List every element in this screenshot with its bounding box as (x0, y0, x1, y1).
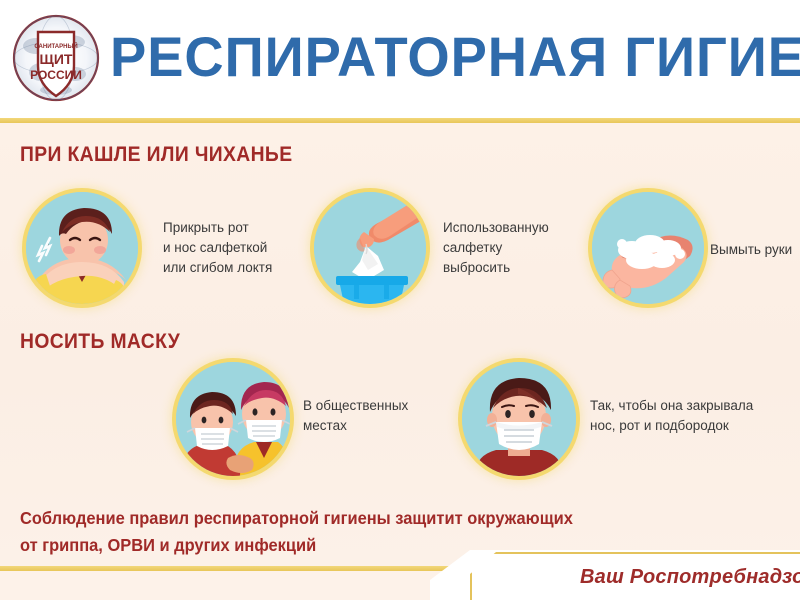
section-heading-cough: ПРИ КАШЛЕ ИЛИ ЧИХАНЬЕ (20, 143, 292, 167)
caption-masks-public: В общественных местах (303, 396, 443, 436)
caption-mask-correct: Так, чтобы она закрывала нос, рот и подб… (590, 396, 790, 436)
signature-rospotrebnadzor: Ваш Роспотребнадзор (580, 566, 800, 589)
poster-header: САНИТАРНЫЙ ЩИТ РОССИИ РЕСПИРАТОРНАЯ ГИГИ… (0, 0, 800, 118)
respiratory-hygiene-poster: САНИТАРНЫЙ ЩИТ РОССИИ РЕСПИРАТОРНАЯ ГИГИ… (0, 0, 800, 600)
caption-wash-hands: Вымыть руки (710, 240, 800, 260)
washing-hands-with-soap-icon (592, 192, 704, 304)
boy-coughing-into-elbow-icon (26, 192, 138, 304)
man-wearing-mask-correctly-icon (462, 362, 576, 476)
emblem-line-1: САНИТАРНЫЙ (34, 42, 77, 50)
page-title: РЕСПИРАТОРНАЯ ГИГИЕНА (110, 14, 779, 100)
icon-circle-mask-correct (462, 362, 576, 476)
sanitary-shield-of-russia-emblem: САНИТАРНЫЙ ЩИТ РОССИИ (8, 8, 104, 108)
icon-circle-cough-elbow (26, 192, 138, 304)
section-heading-mask: НОСИТЬ МАСКУ (20, 330, 180, 354)
emblem-line-2: ЩИТ (40, 51, 73, 67)
caption-cough-elbow: Прикрыть рот и нос салфеткой или сгибом … (163, 218, 298, 278)
two-people-wearing-masks-icon (176, 362, 290, 476)
icon-circle-wash-hands (592, 192, 704, 304)
icon-circle-discard-tissue (314, 192, 426, 304)
caption-discard-tissue: Использованную салфетку выбросить (443, 218, 578, 278)
icon-circle-masks-public (176, 362, 290, 476)
hand-dropping-tissue-in-bin-icon (314, 192, 426, 304)
emblem-line-3: РОССИИ (30, 68, 82, 82)
